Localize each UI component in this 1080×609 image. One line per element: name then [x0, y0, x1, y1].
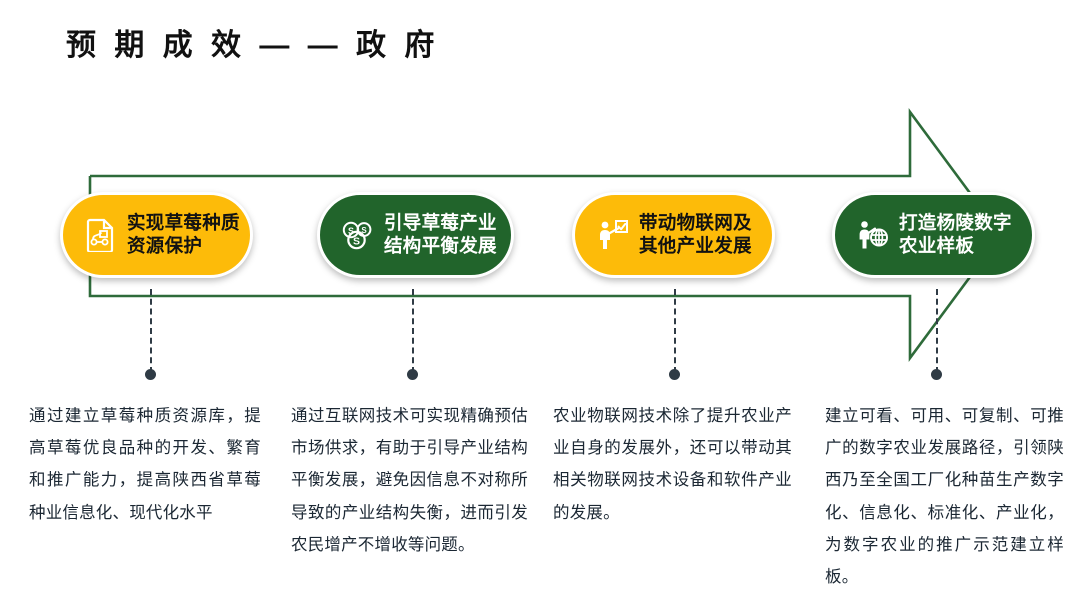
step-pill-label-2: 引导草莓产业 结构平衡发展: [384, 212, 497, 257]
coins-money-icon: S S S: [338, 214, 378, 256]
svg-text:S: S: [353, 236, 360, 248]
leader-line-4: [936, 289, 938, 373]
leader-dot-1: [145, 369, 156, 380]
page-title: 预 期 成 效 — — 政 府: [66, 20, 439, 64]
person-globe-icon: [853, 214, 893, 256]
step-description-1: 通过建立草莓种质资源库，提高草莓优良品种的开发、繁育和推广能力，提高陕西省草莓种…: [29, 400, 261, 529]
person-checklist-icon: [593, 214, 633, 256]
step-pill-4[interactable]: 打造杨陵数字 农业样板: [832, 192, 1035, 278]
step-pill-label-1: 实现草莓种质 资源保护: [127, 212, 240, 257]
leader-dot-3: [669, 369, 680, 380]
leader-line-3: [674, 289, 676, 373]
step-pill-3[interactable]: 带动物联网及 其他产业发展: [572, 192, 775, 278]
leader-dot-2: [407, 369, 418, 380]
step-pill-2[interactable]: S S S 引导草莓产业 结构平衡发展: [317, 192, 514, 278]
step-description-3: 农业物联网技术除了提升农业产业自身的发展外，还可以带动其相关物联网技术设备和软件…: [553, 400, 792, 529]
slide-canvas: 预 期 成 效 — — 政 府 实现草莓种质 资源保护: [0, 0, 1080, 609]
leader-dot-4: [931, 369, 942, 380]
step-description-4: 建立可看、可用、可复制、可推广的数字农业发展路径，引领陕西乃至全国工厂化种苗生产…: [825, 400, 1064, 593]
step-description-2: 通过互联网技术可实现精确预估市场供求，有助于引导产业结构平衡发展，避免因信息不对…: [291, 400, 528, 561]
step-pill-label-3: 带动物联网及 其他产业发展: [639, 212, 752, 257]
step-pill-1[interactable]: 实现草莓种质 资源保护: [60, 192, 253, 278]
leader-line-1: [150, 289, 152, 373]
step-pill-label-4: 打造杨陵数字 农业样板: [899, 212, 1012, 257]
leader-line-2: [412, 289, 414, 373]
document-network-icon: [81, 214, 121, 256]
